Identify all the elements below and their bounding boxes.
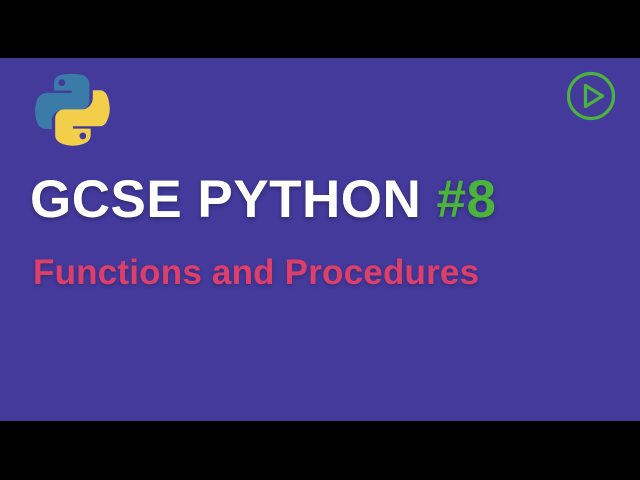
video-thumbnail: GCSE PYTHON #8 Functions and Procedures (0, 0, 640, 480)
letterbox-bar-top (0, 0, 640, 58)
play-button-circle (569, 74, 614, 119)
page-subtitle: Functions and Procedures (33, 255, 623, 290)
letterbox-bar-bottom (0, 421, 640, 480)
play-button-triangle (586, 86, 603, 107)
thumbnail-stage: GCSE PYTHON #8 Functions and Procedures (0, 58, 640, 421)
play-button-icon[interactable] (565, 70, 617, 122)
python-logo (33, 70, 111, 148)
title-episode-number: #8 (437, 170, 497, 229)
page-title: GCSE PYTHON #8 (30, 173, 620, 226)
title-main-text: GCSE PYTHON (30, 170, 437, 229)
